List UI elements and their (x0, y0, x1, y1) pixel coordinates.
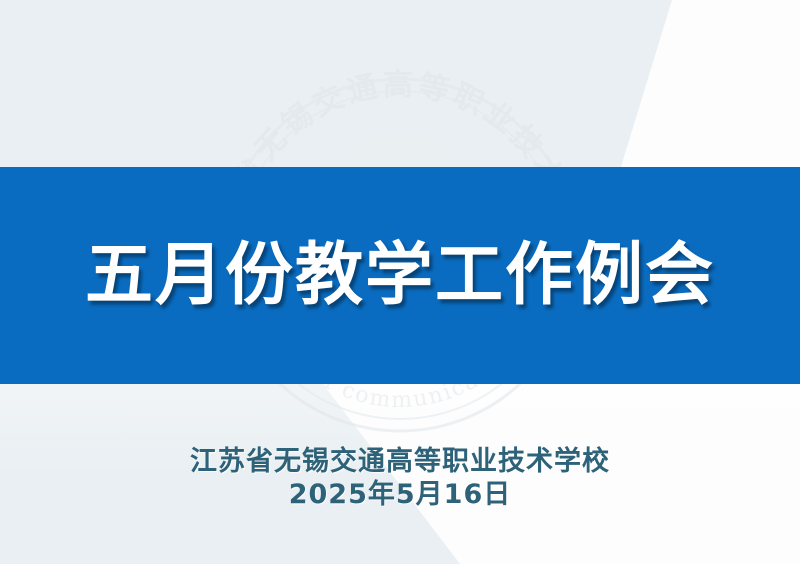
slide-footer: 江苏省无锡交通高等职业技术学校 2025年5月16日 (0, 446, 800, 512)
presentation-slide: 江苏省无锡交通高等职业技术学院 Wuxi institute of commun… (0, 0, 800, 564)
organization-name: 江苏省无锡交通高等职业技术学校 (0, 446, 800, 479)
presentation-date: 2025年5月16日 (0, 479, 800, 512)
title-banner: 五月份教学工作例会 (0, 167, 800, 384)
slide-title: 五月份教学工作例会 (85, 242, 715, 310)
